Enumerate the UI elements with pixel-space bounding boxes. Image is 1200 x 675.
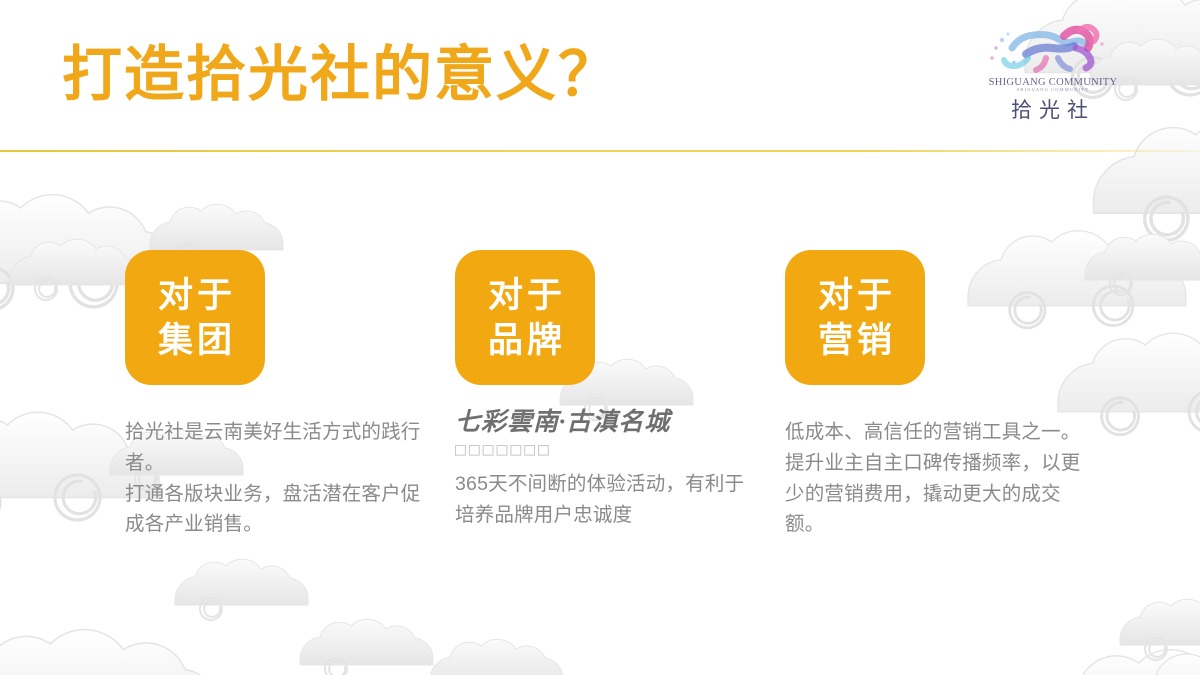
missing-glyph-row: □□□□□□□ bbox=[455, 439, 755, 462]
badge-line-2: 品牌 bbox=[484, 319, 566, 364]
qilin-watercolor-icon bbox=[968, 14, 1138, 76]
badge-card-group[interactable]: 对于 集团 bbox=[125, 250, 265, 385]
body-paragraph: 提升业主自主口碑传播频率，以更少的营销费用，撬动更大的成交额。 bbox=[785, 448, 1085, 540]
badge-line-1: 对于 bbox=[814, 274, 896, 319]
column-body-brand: 七彩雲南·古滇名城 □□□□□□□ 365天不间断的体验活动，有利于培养品牌用户… bbox=[455, 409, 755, 531]
body-paragraph: 打通各版块业务，盘活潜在客户促成各产业销售。 bbox=[125, 479, 425, 541]
header-divider bbox=[0, 150, 1200, 152]
badge-line-2: 集团 bbox=[154, 319, 236, 364]
column-body-group: 拾光社是云南美好生活方式的践行者。 打通各版块业务，盘活潜在客户促成各产业销售。 bbox=[125, 417, 425, 540]
badge-line-2: 营销 bbox=[814, 319, 896, 364]
logo-chinese-name: 拾光社 bbox=[968, 94, 1138, 124]
badge-card-marketing[interactable]: 对于 营销 bbox=[785, 250, 925, 385]
logo-english-name: SHIGUANG COMMUNITY bbox=[968, 77, 1138, 88]
body-paragraph: 低成本、高信任的营销工具之一。 bbox=[785, 417, 1085, 448]
content-column-marketing: 对于 营销 低成本、高信任的营销工具之一。 提升业主自主口碑传播频率，以更少的营… bbox=[785, 250, 1095, 540]
badge-line-1: 对于 bbox=[484, 274, 566, 319]
brand-logo: SHIGUANG COMMUNITY SHIGUANG COMMUNITY 拾光… bbox=[968, 14, 1138, 134]
column-body-marketing: 低成本、高信任的营销工具之一。 提升业主自主口碑传播频率，以更少的营销费用，撬动… bbox=[785, 417, 1085, 540]
content-column-group: 对于 集团 拾光社是云南美好生活方式的践行者。 打通各版块业务，盘活潜在客户促成… bbox=[125, 250, 435, 540]
content-column-brand: 对于 品牌 七彩雲南·古滇名城 □□□□□□□ 365天不间断的体验活动，有利于… bbox=[455, 250, 765, 531]
badge-card-brand[interactable]: 对于 品牌 bbox=[455, 250, 595, 385]
body-paragraph: 拾光社是云南美好生活方式的践行者。 bbox=[125, 417, 425, 479]
badge-line-1: 对于 bbox=[154, 274, 236, 319]
presentation-slide: 打造拾光社的意义？ SHIGUANG COMMUNITY SH bbox=[0, 0, 1200, 675]
body-paragraph: 365天不间断的体验活动，有利于培养品牌用户忠诚度 bbox=[455, 469, 755, 531]
decorative-calligraphy: 七彩雲南·古滇名城 bbox=[455, 409, 755, 437]
page-title: 打造拾光社的意义？ bbox=[62, 45, 620, 105]
